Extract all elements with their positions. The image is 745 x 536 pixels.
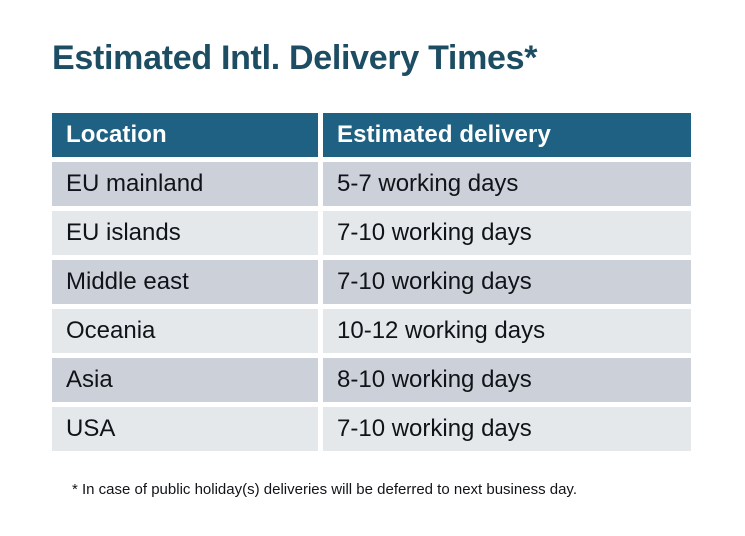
- cell-location: Oceania: [52, 309, 318, 353]
- cell-delivery: 10-12 working days: [323, 309, 691, 353]
- table-row: USA 7-10 working days: [52, 407, 691, 451]
- page-title: Estimated Intl. Delivery Times*: [52, 36, 537, 80]
- cell-location: USA: [52, 407, 318, 451]
- cell-delivery: 7-10 working days: [323, 260, 691, 304]
- footnote: * In case of public holiday(s) deliverie…: [72, 480, 577, 500]
- cell-location: Middle east: [52, 260, 318, 304]
- table-row: Middle east 7-10 working days: [52, 260, 691, 304]
- cell-delivery: 7-10 working days: [323, 211, 691, 255]
- table-row: Asia 8-10 working days: [52, 358, 691, 402]
- delivery-times-table: Location Estimated delivery EU mainland …: [52, 113, 691, 451]
- cell-delivery: 8-10 working days: [323, 358, 691, 402]
- column-header-location: Location: [52, 113, 318, 157]
- cell-location: Asia: [52, 358, 318, 402]
- table-header-row: Location Estimated delivery: [52, 113, 691, 157]
- column-header-estimated-delivery: Estimated delivery: [323, 113, 691, 157]
- cell-delivery: 7-10 working days: [323, 407, 691, 451]
- table-row: EU mainland 5-7 working days: [52, 162, 691, 206]
- table-row: EU islands 7-10 working days: [52, 211, 691, 255]
- table-row: Oceania 10-12 working days: [52, 309, 691, 353]
- cell-location: EU mainland: [52, 162, 318, 206]
- delivery-times-page: Estimated Intl. Delivery Times* Location…: [0, 0, 745, 536]
- cell-location: EU islands: [52, 211, 318, 255]
- cell-delivery: 5-7 working days: [323, 162, 691, 206]
